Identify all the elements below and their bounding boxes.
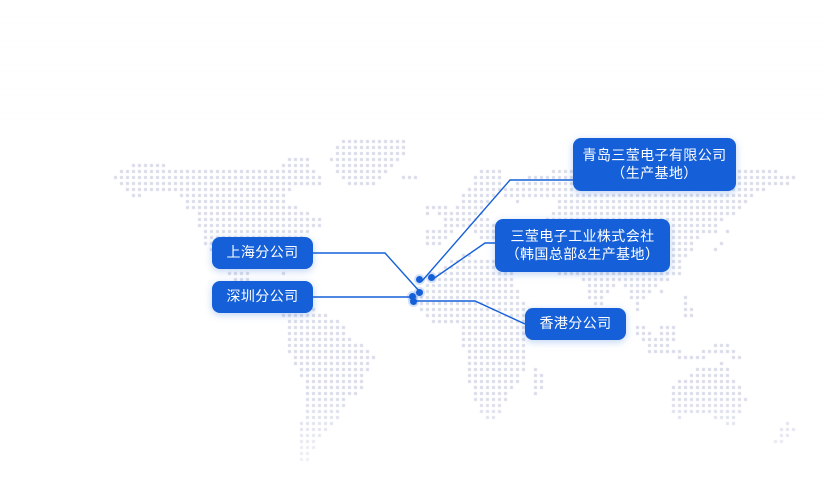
label-shenzhen-line1: 深圳分公司 [227, 288, 299, 306]
world-presence-map: 青岛三莹电子有限公司 （生产基地） 三莹电子工业株式会社 （韩国总部&生产基地）… [0, 0, 824, 480]
label-korea-hq[interactable]: 三莹电子工业株式会社 （韩国总部&生产基地） [495, 219, 670, 272]
label-qingdao-line1: 青岛三莹电子有限公司 [583, 147, 727, 165]
shanghai-marker[interactable] [416, 289, 423, 296]
label-shanghai[interactable]: 上海分公司 [212, 237, 313, 269]
hongkong-marker[interactable] [410, 298, 417, 305]
label-korea-line2: （韩国总部&生产基地） [506, 246, 660, 264]
label-qingdao-line2: （生产基地） [611, 165, 697, 183]
qingdao-marker[interactable] [416, 276, 423, 283]
dot-matrix-world-map [0, 0, 824, 480]
label-hongkong[interactable]: 香港分公司 [525, 308, 626, 340]
label-shanghai-line1: 上海分公司 [227, 244, 299, 262]
label-hongkong-line1: 香港分公司 [540, 315, 612, 333]
label-shenzhen[interactable]: 深圳分公司 [212, 281, 313, 313]
korea-marker[interactable] [428, 274, 435, 281]
map-canvas [0, 0, 824, 480]
label-korea-line1: 三莹电子工业株式会社 [511, 228, 655, 246]
label-qingdao[interactable]: 青岛三莹电子有限公司 （生产基地） [573, 138, 736, 191]
